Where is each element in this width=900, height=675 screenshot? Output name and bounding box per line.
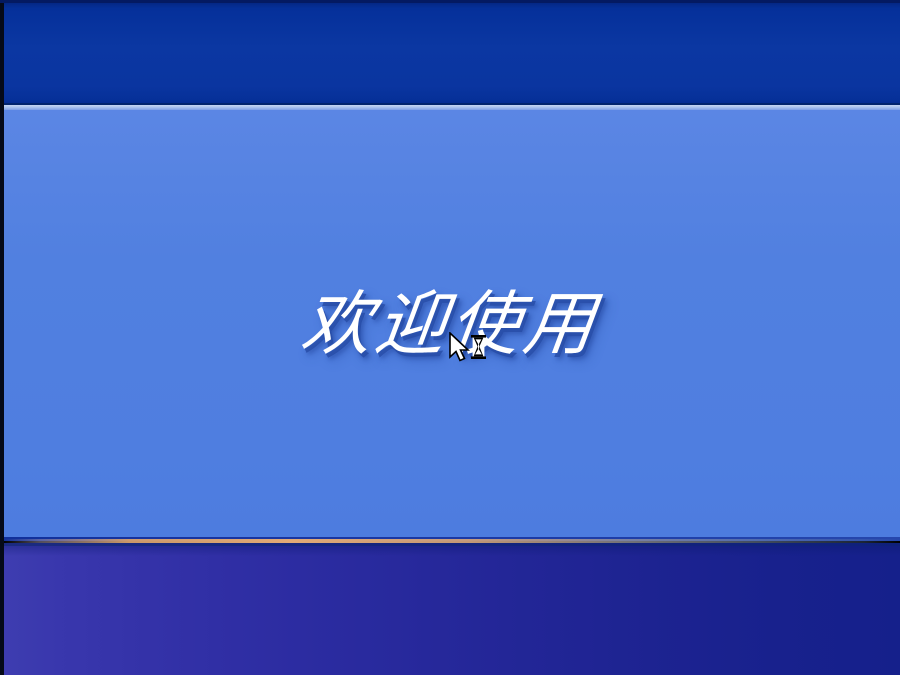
busy-cursor — [448, 332, 494, 366]
top-bezel-edge — [0, 0, 900, 3]
top-blue-band — [0, 0, 900, 105]
bottom-band-top-fade — [4, 546, 900, 556]
arrow-pointer-icon — [450, 333, 468, 361]
desktop-background — [4, 110, 900, 537]
bottom-gradient-band — [4, 546, 900, 675]
left-bezel-edge — [0, 0, 4, 675]
hourglass-icon — [471, 335, 486, 359]
welcome-splash-screen: 欢迎使用 — [0, 0, 900, 675]
